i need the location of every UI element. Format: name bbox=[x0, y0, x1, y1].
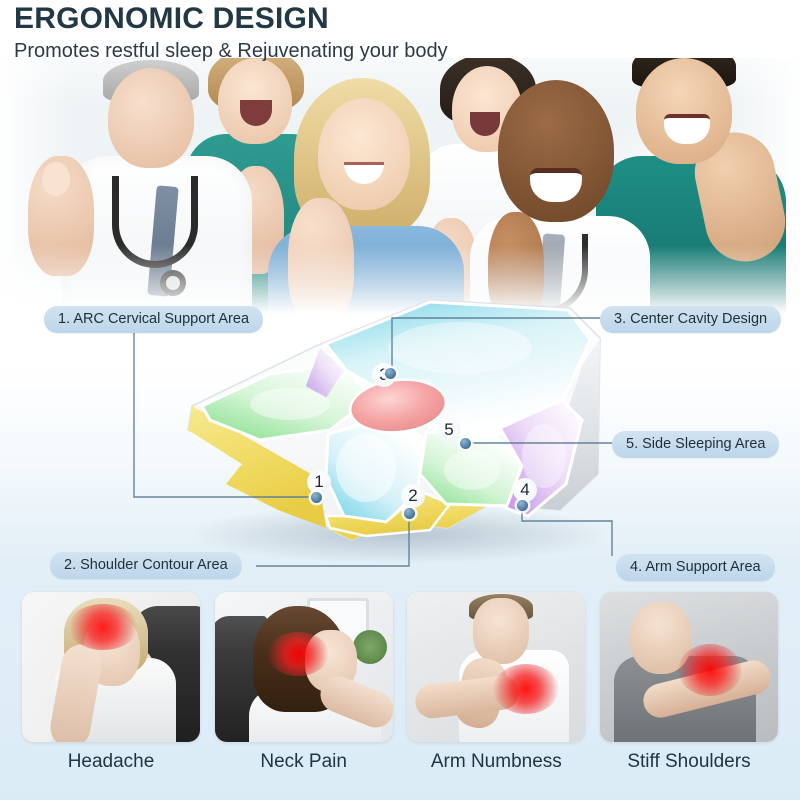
zone-number-1: 1 bbox=[307, 470, 331, 494]
person-male-nurse-head bbox=[636, 58, 732, 164]
product-infographic-page: ERGONOMIC DESIGN Promotes restful sleep … bbox=[0, 0, 800, 800]
person-blonde-nurse-head bbox=[318, 98, 410, 210]
pillow-highlight-front bbox=[336, 434, 396, 502]
callout-chip-side-sleeping[interactable]: 5. Side Sleeping Area bbox=[612, 431, 779, 458]
zone-number-5: 5 bbox=[437, 418, 461, 442]
photo-sheen bbox=[215, 592, 393, 742]
anchor-dot-1 bbox=[311, 492, 322, 503]
symptom-caption-stiff-shoulders: Stiff Shoulders bbox=[600, 750, 778, 774]
callout-chip-arm-support[interactable]: 4. Arm Support Area bbox=[616, 554, 775, 581]
symptom-caption-headache: Headache bbox=[22, 750, 200, 774]
person-senior-doctor-thumbnail bbox=[42, 162, 70, 196]
pillow-highlight-left bbox=[250, 388, 330, 420]
symptom-photo-neck-pain bbox=[215, 592, 393, 742]
anchor-dot-3 bbox=[385, 368, 396, 379]
callout-chip-arc-cervical-support[interactable]: 1. ARC Cervical Support Area bbox=[44, 306, 263, 333]
symptom-caption-neck-pain: Neck Pain bbox=[215, 750, 393, 774]
anchor-dot-2 bbox=[404, 508, 415, 519]
symptom-card-headache[interactable]: Headache bbox=[22, 592, 200, 800]
photo-sheen bbox=[600, 592, 778, 742]
zone-number-4: 4 bbox=[513, 478, 537, 502]
callout-chip-center-cavity[interactable]: 3. Center Cavity Design bbox=[600, 306, 781, 333]
header: ERGONOMIC DESIGN Promotes restful sleep … bbox=[0, 0, 800, 64]
person-senior-doctor-head bbox=[108, 68, 194, 168]
symptom-card-arm-numbness[interactable]: Arm Numbness bbox=[407, 592, 585, 800]
anchor-dot-4 bbox=[517, 500, 528, 511]
symptom-cards-row: Headache Neck Pain bbox=[0, 592, 800, 800]
photo-sheen bbox=[407, 592, 585, 742]
symptom-photo-headache bbox=[22, 592, 200, 742]
pillow-highlight-green bbox=[444, 450, 500, 490]
photo-sheen bbox=[22, 592, 200, 742]
callout-chip-shoulder-contour[interactable]: 2. Shoulder Contour Area bbox=[50, 552, 242, 579]
symptom-card-stiff-shoulders[interactable]: Stiff Shoulders bbox=[600, 592, 778, 800]
symptom-photo-stiff-shoulders bbox=[600, 592, 778, 742]
symptom-card-neck-pain[interactable]: Neck Pain bbox=[215, 592, 393, 800]
anchor-dot-5 bbox=[460, 438, 471, 449]
pillow-highlight-top bbox=[388, 322, 532, 374]
zone-number-2: 2 bbox=[401, 484, 425, 508]
page-subtitle: Promotes restful sleep & Rejuvenating yo… bbox=[14, 38, 800, 64]
page-title: ERGONOMIC DESIGN bbox=[14, 2, 800, 36]
symptom-caption-arm-numbness: Arm Numbness bbox=[407, 750, 585, 774]
symptom-photo-arm-numbness bbox=[407, 592, 585, 742]
